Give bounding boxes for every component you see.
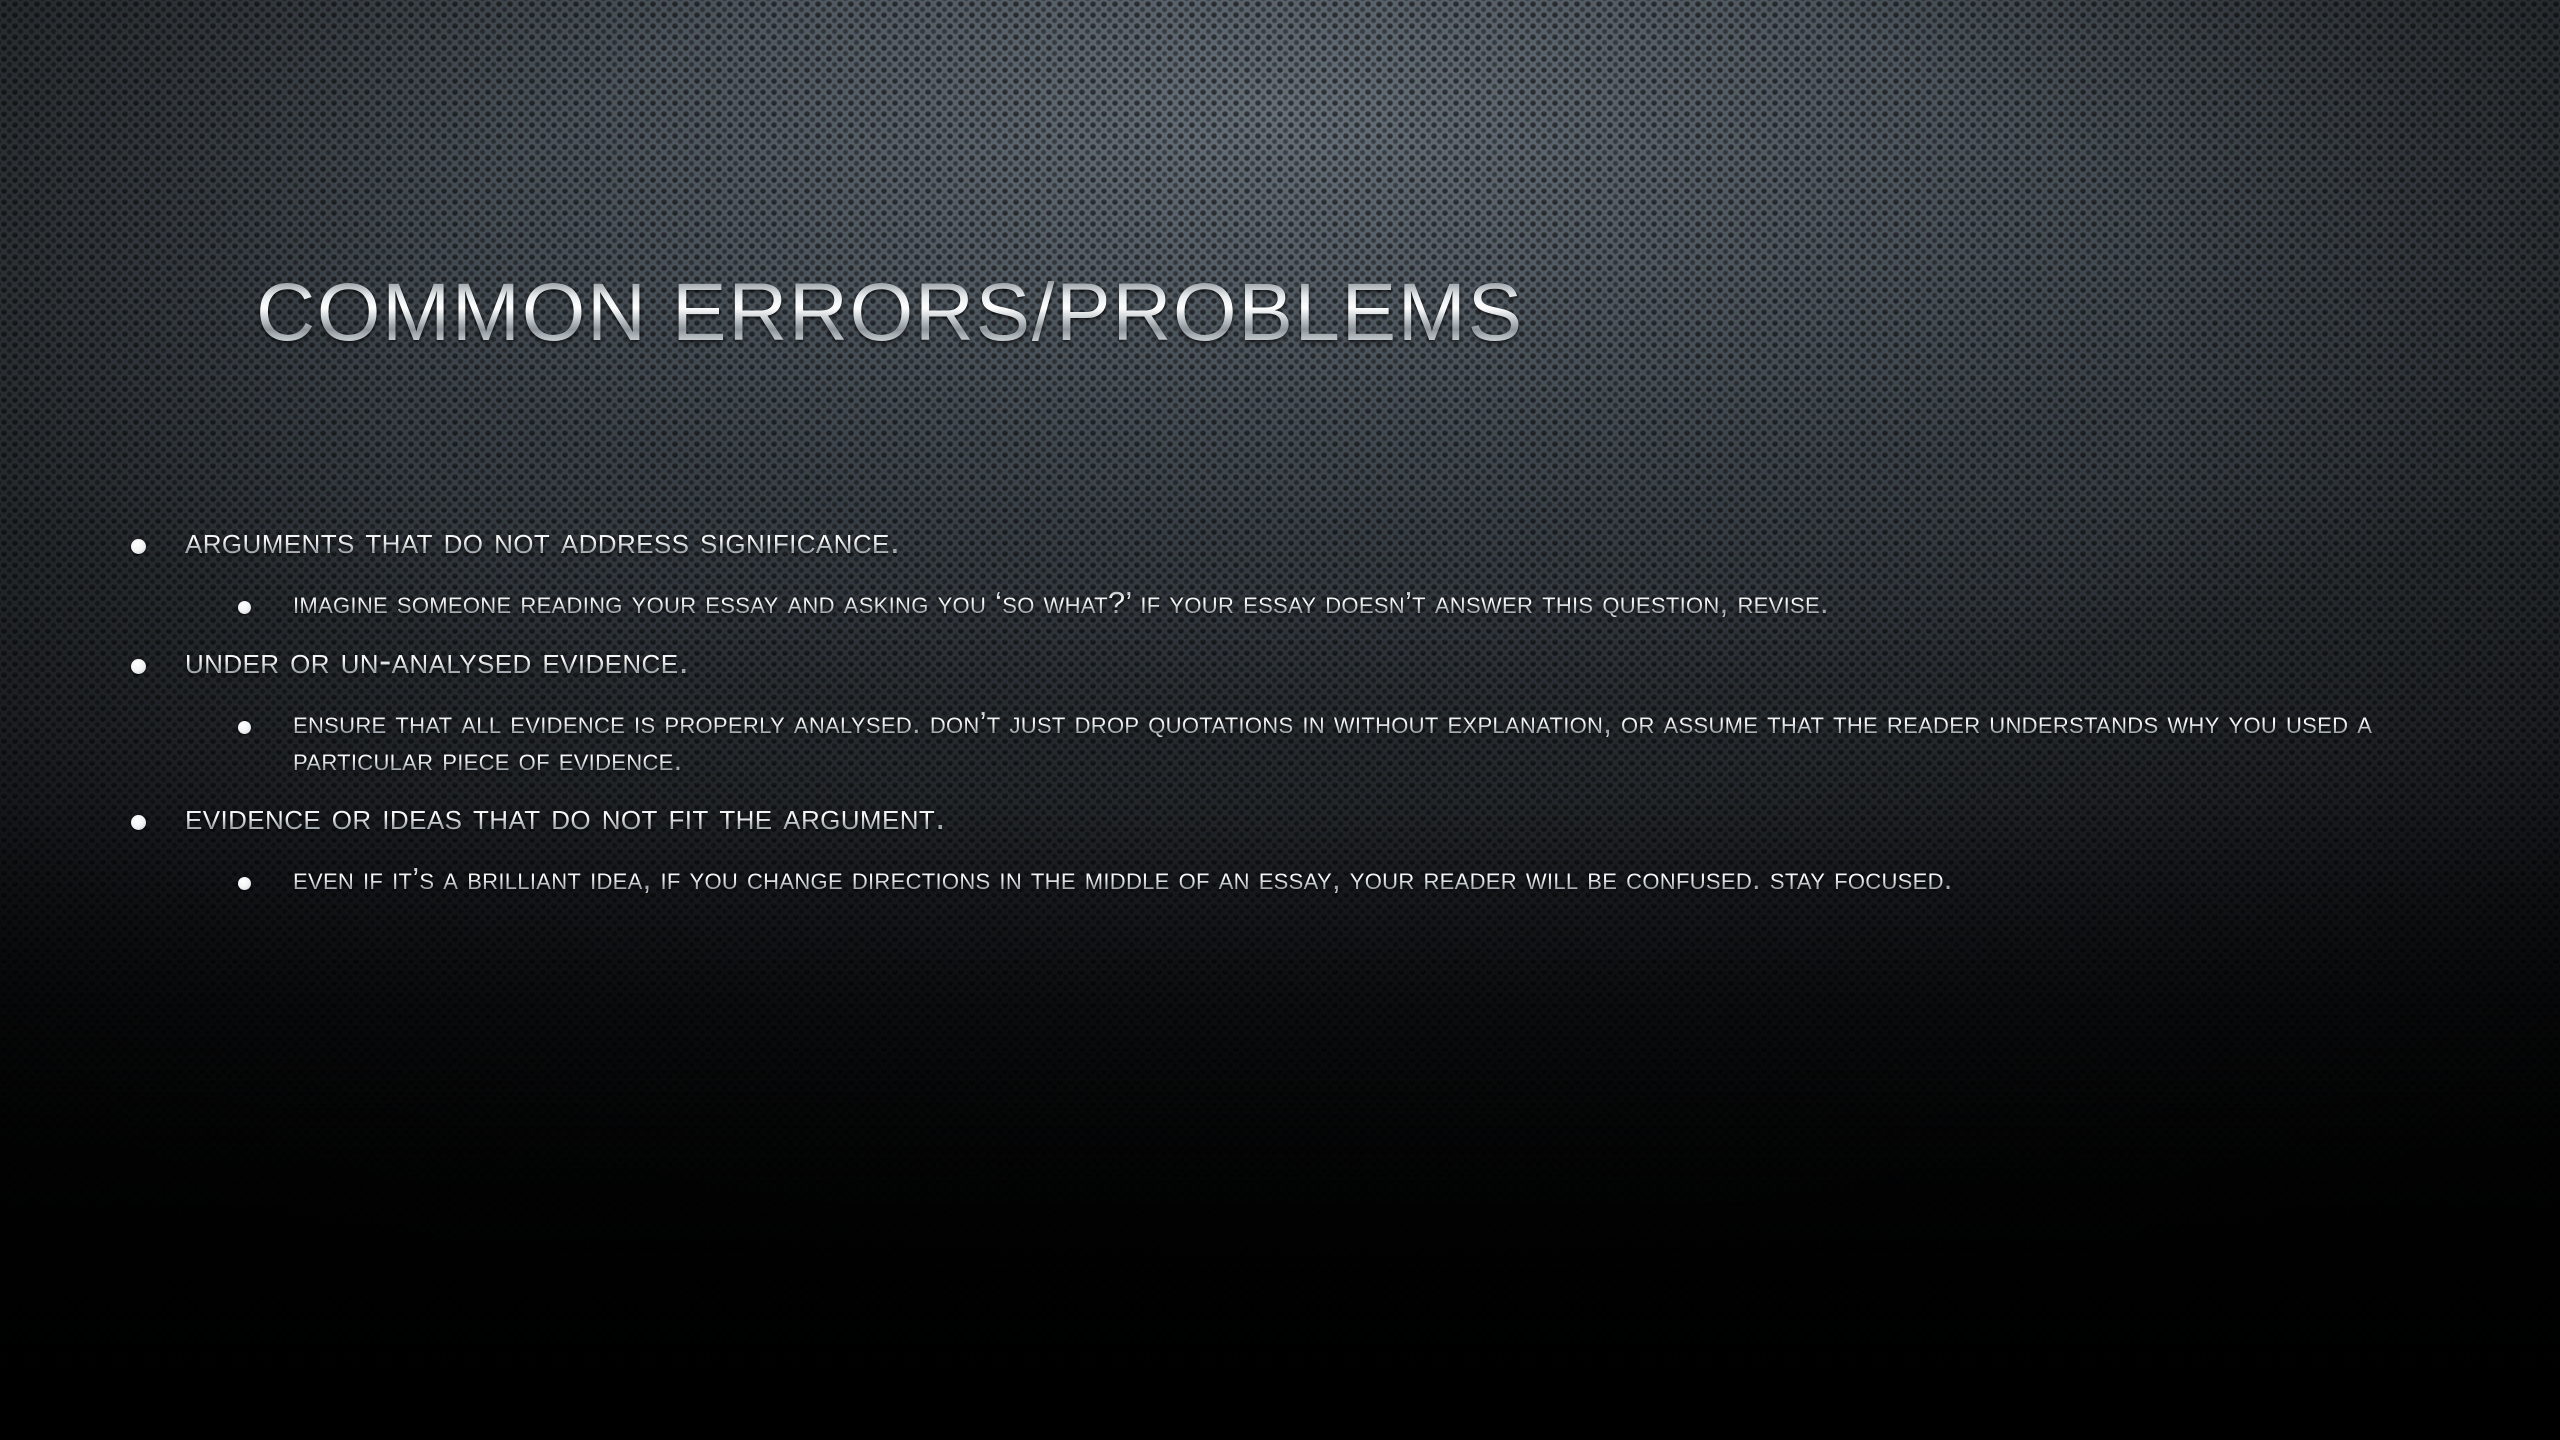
bullet-item-level2: Imagine someone reading your essay and a… bbox=[120, 585, 2450, 622]
bullet-item-level2: Even if it’s a brilliant idea, if you ch… bbox=[120, 861, 2450, 898]
bullet-dot-icon bbox=[131, 539, 146, 554]
bullet-item-level1: Evidence or Ideas that do not fit the ar… bbox=[120, 796, 2450, 839]
slide-title-placeholder: Common Errors/Problems bbox=[256, 272, 2356, 354]
bullet-text: Ensure that all evidence is properly ana… bbox=[293, 705, 2372, 777]
bullet-text: Evidence or Ideas that do not fit the ar… bbox=[185, 796, 946, 837]
bullet-item-level1: Arguments that do not address significan… bbox=[120, 520, 2450, 563]
bullet-dot-icon bbox=[238, 721, 251, 734]
bullet-text: Imagine someone reading your essay and a… bbox=[293, 585, 1829, 620]
bullet-dot-icon bbox=[131, 815, 146, 830]
bullet-text: Under or Un-analysed evidence. bbox=[185, 640, 689, 681]
bullet-dot-icon bbox=[238, 601, 251, 614]
slide-title: Common Errors/Problems bbox=[256, 272, 2356, 354]
bullet-text: Arguments that do not address significan… bbox=[185, 520, 900, 561]
bullet-item-level2: Ensure that all evidence is properly ana… bbox=[120, 705, 2450, 779]
slide-body-placeholder: Arguments that do not address significan… bbox=[120, 520, 2450, 916]
bullet-dot-icon bbox=[131, 659, 146, 674]
bullet-item-level1: Under or Un-analysed evidence. bbox=[120, 640, 2450, 683]
bullet-text: Even if it’s a brilliant idea, if you ch… bbox=[293, 861, 1953, 896]
presentation-slide: Common Errors/Problems Arguments that do… bbox=[0, 0, 2560, 1440]
bullet-dot-icon bbox=[238, 877, 251, 890]
